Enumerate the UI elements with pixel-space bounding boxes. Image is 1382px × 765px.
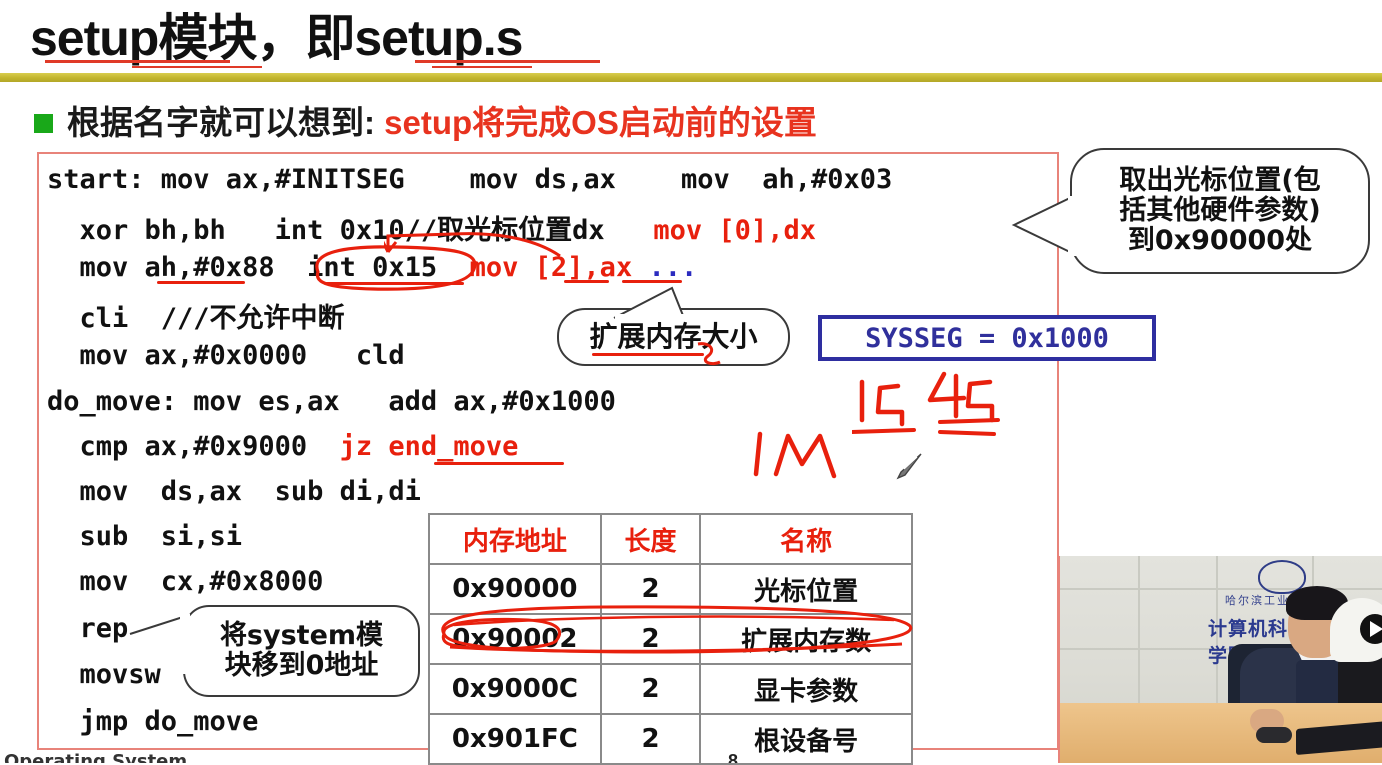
code-line-1-red: mov [0],dx bbox=[653, 215, 816, 246]
table-row: 0x9000C 2 显卡参数 bbox=[429, 664, 912, 714]
title-underline-right bbox=[415, 60, 600, 63]
footer-text: Operating System bbox=[4, 752, 187, 763]
code-line-4: mov ax,#0x0000 cld bbox=[47, 340, 405, 371]
ink-underline-bracket2 bbox=[564, 280, 609, 283]
title-divider bbox=[0, 73, 1382, 82]
code-line-6-black: cmp ax,#0x9000 bbox=[47, 431, 340, 462]
callout-cursor-tail bbox=[1010, 195, 1082, 257]
table-row: 0x90002 2 扩展内存数 bbox=[429, 614, 912, 664]
code-line-2-blue: ... bbox=[632, 252, 697, 283]
callout-memory-line1: 扩展内存大小 bbox=[589, 321, 757, 352]
cell-name: 显卡参数 bbox=[700, 664, 912, 714]
mouse bbox=[1256, 727, 1292, 743]
bullet-text: 根据名字就可以想到: setup将完成OS启动前的设置 bbox=[67, 96, 817, 144]
table-header-name: 名称 bbox=[700, 514, 912, 564]
code-line-12: jmp do_move bbox=[47, 706, 258, 737]
code-line-0: start: mov ax,#INITSEG mov ds,ax mov ah,… bbox=[47, 164, 892, 195]
title-underline-left-secondary bbox=[132, 66, 262, 68]
code-line-3: cli ///不允许中断 bbox=[47, 296, 345, 335]
handwriting-1m bbox=[750, 430, 860, 482]
table-header-length: 长度 bbox=[601, 514, 701, 564]
title-underline-right-secondary bbox=[432, 66, 532, 68]
callout-system-tail bbox=[128, 612, 190, 676]
pen-cursor-icon[interactable] bbox=[895, 452, 927, 480]
callout-cursor-line2: 括其他硬件参数) bbox=[1119, 196, 1320, 226]
cell-address: 0x901FC bbox=[429, 714, 601, 764]
code-line-6-red: jz end_move bbox=[340, 431, 519, 462]
code-line-2: mov ah,#0x88 int 0x15 mov [2],ax ... bbox=[47, 252, 697, 283]
code-line-1: xor bh,bh int 0x10//取光标位置dx mov [0],dx bbox=[47, 208, 816, 247]
code-line-6: cmp ax,#0x9000 jz end_move bbox=[47, 431, 518, 462]
memory-table: 内存地址 长度 名称 0x90000 2 光标位置 0x90002 2 扩展内存… bbox=[428, 513, 913, 765]
cell-address: 0x90000 bbox=[429, 564, 601, 614]
cell-length: 2 bbox=[601, 564, 701, 614]
ink-underline-end-move bbox=[434, 462, 564, 465]
cell-length: 2 bbox=[601, 664, 701, 714]
code-line-2-black: mov ah,#0x88 int 0x15 bbox=[47, 252, 470, 283]
sysseg-box: SYSSEG = 0x1000 bbox=[818, 315, 1156, 361]
bullet-row: 根据名字就可以想到: setup将完成OS启动前的设置 bbox=[34, 96, 817, 144]
table-header-row: 内存地址 长度 名称 bbox=[429, 514, 912, 564]
ink-underline-memory-bubble bbox=[592, 353, 704, 356]
callout-system-line2: 块移到0地址 bbox=[225, 651, 379, 681]
code-line-10: rep bbox=[47, 613, 128, 644]
title-underline-left bbox=[45, 60, 230, 63]
webcam-video-overlay[interactable]: 哈尔滨工业大学 计算机科学与技术学院 bbox=[1058, 556, 1382, 763]
table-header-address: 内存地址 bbox=[429, 514, 601, 564]
bullet-emphasis: setup将完成OS启动前的设置 bbox=[384, 104, 817, 141]
cell-name: 扩展内存数 bbox=[700, 614, 912, 664]
sysseg-value: SYSSEG = 0x1000 bbox=[865, 323, 1109, 354]
callout-move-system: 将system模 块移到0地址 bbox=[183, 605, 420, 697]
wall-grid-line bbox=[1138, 556, 1140, 706]
code-line-2-red: mov [2],ax bbox=[470, 252, 633, 283]
bullet-square-icon bbox=[34, 114, 53, 133]
code-line-9: mov cx,#0x8000 bbox=[47, 566, 323, 597]
play-triangle-icon[interactable] bbox=[1370, 621, 1382, 637]
cell-length: 2 bbox=[601, 614, 701, 664]
bullet-prefix: 根据名字就可以想到: bbox=[67, 104, 384, 141]
handwriting-1g bbox=[852, 378, 930, 450]
callout-cursor-line3: 到0x90000处 bbox=[1128, 226, 1312, 256]
callout-system-line1: 将system模 bbox=[220, 621, 383, 651]
ink-underline-ax bbox=[622, 280, 682, 283]
cell-length: 2 bbox=[601, 714, 701, 764]
code-line-5: do_move: mov es,ax add ax,#0x1000 bbox=[47, 386, 616, 417]
ink-underline-0x88 bbox=[157, 281, 245, 284]
handwriting-4g bbox=[924, 370, 1004, 458]
lecturer-vest bbox=[1296, 660, 1340, 708]
code-line-1-black: xor bh,bh int 0x10//取光标位置dx bbox=[47, 215, 653, 246]
cell-name: 光标位置 bbox=[700, 564, 912, 614]
table-row: 0x901FC 2 根设备号 bbox=[429, 714, 912, 764]
callout-memory-tail bbox=[612, 286, 692, 320]
code-line-7: mov ds,ax sub di,di bbox=[47, 476, 421, 507]
page-number: 8 bbox=[728, 752, 738, 763]
callout-cursor-line1: 取出光标位置(包 bbox=[1119, 166, 1320, 196]
code-line-8: sub si,si bbox=[47, 521, 242, 552]
ink-underline-int0x15 bbox=[324, 282, 464, 285]
callout-cursor-position: 取出光标位置(包 括其他硬件参数) 到0x90000处 bbox=[1070, 148, 1370, 274]
cell-address: 0x90002 bbox=[429, 614, 601, 664]
table-row: 0x90000 2 光标位置 bbox=[429, 564, 912, 614]
cell-address: 0x9000C bbox=[429, 664, 601, 714]
